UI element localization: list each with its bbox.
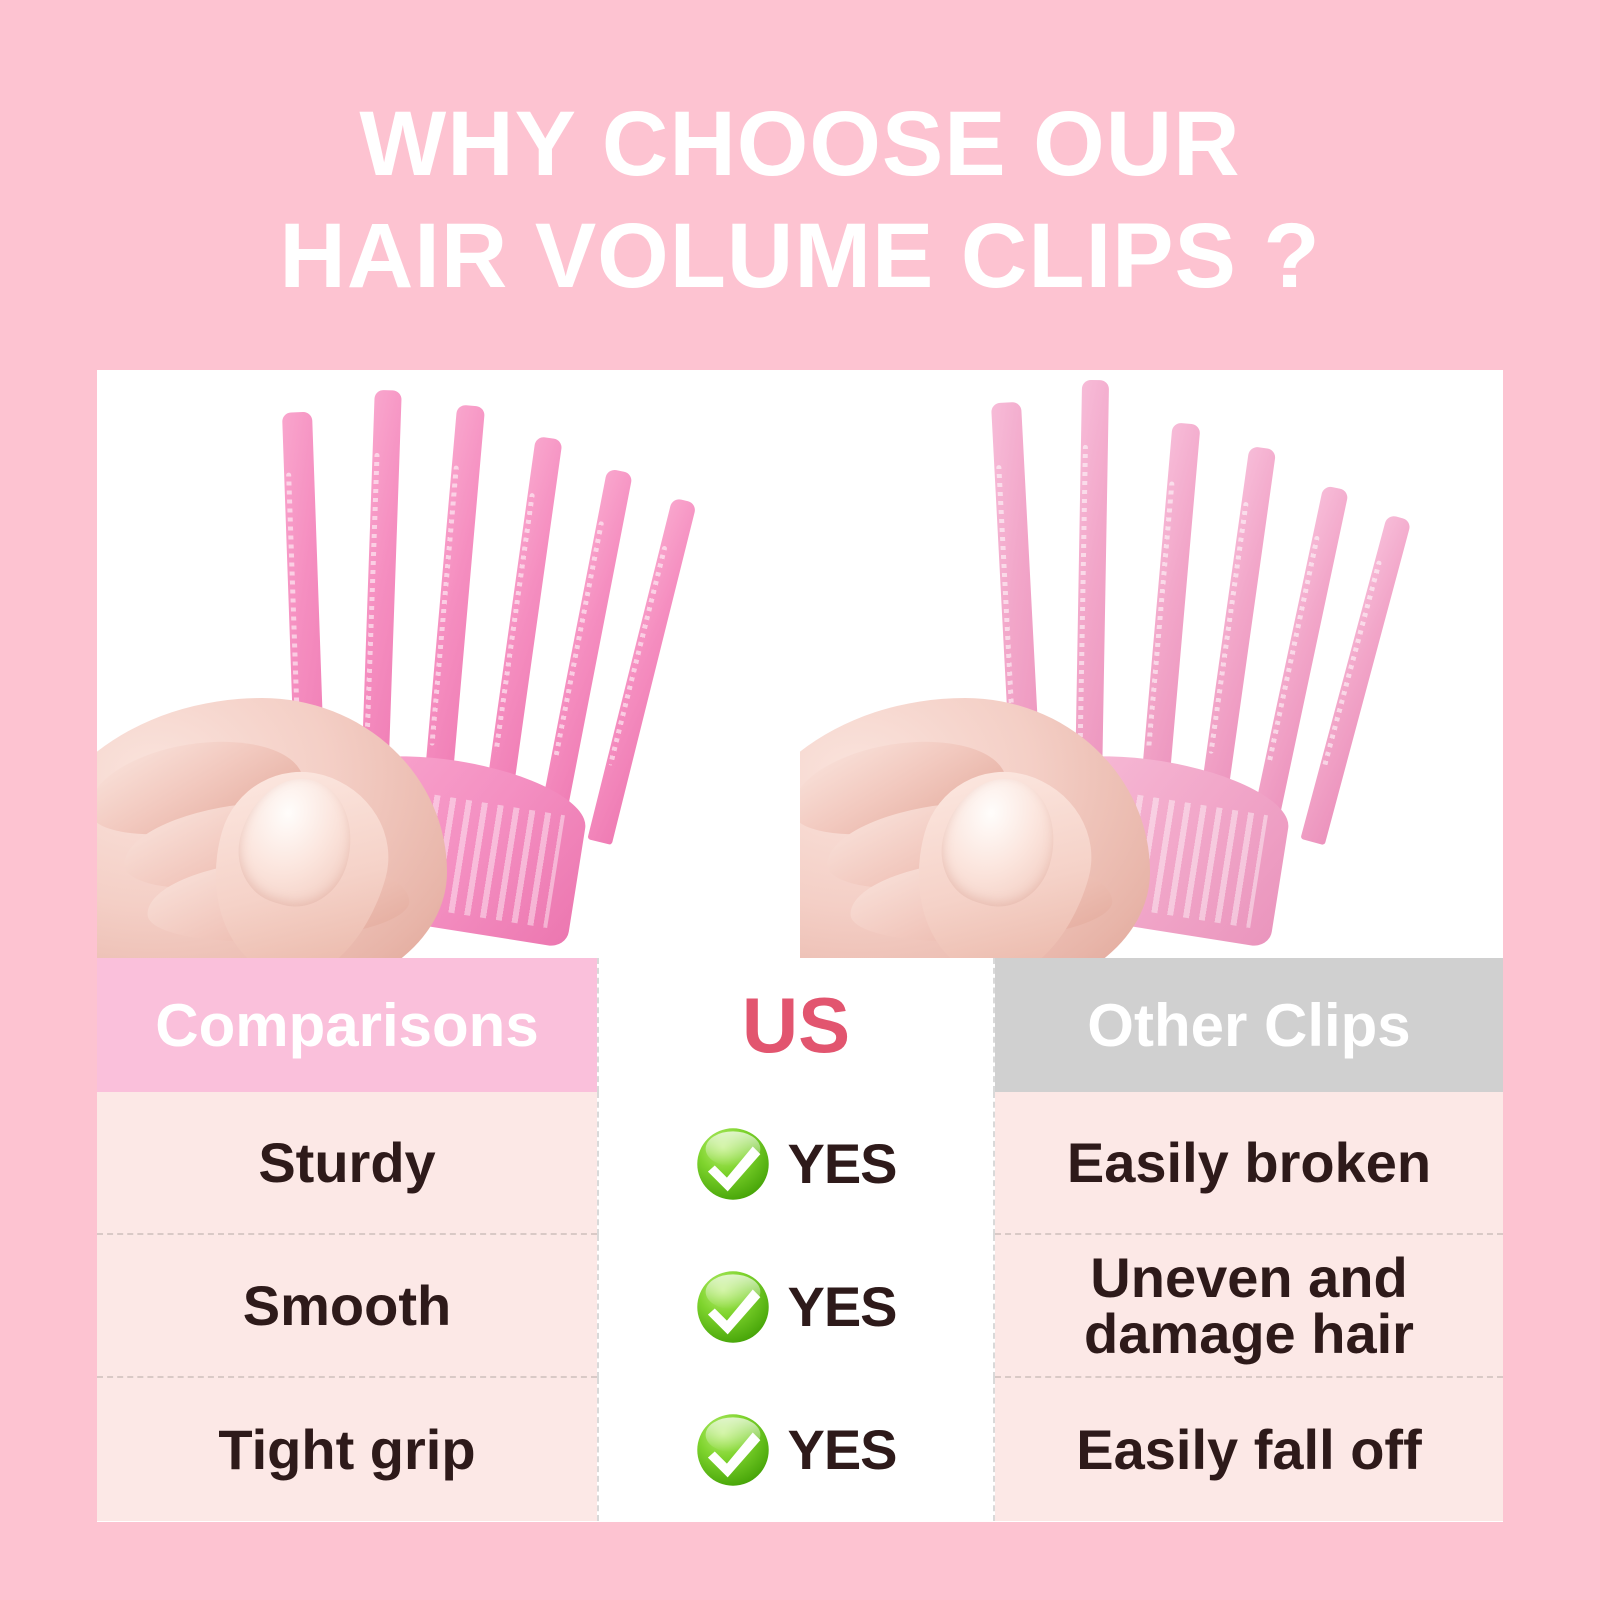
table-row: Tight grip YES Easily fall off: [97, 1378, 1503, 1521]
other-value-line-2: damage hair: [1084, 1306, 1414, 1362]
feature-label: Smooth: [97, 1235, 597, 1378]
hand-graphic: [97, 668, 497, 958]
feature-label: Tight grip: [97, 1378, 597, 1521]
other-value-line-1: Uneven and: [1084, 1250, 1414, 1306]
comparison-table: Comparisons US Other Clips Sturdy: [97, 958, 1503, 1522]
us-yes-label: YES: [787, 1417, 896, 1482]
hand-graphic: [800, 668, 1200, 958]
us-yes-label: YES: [787, 1274, 896, 1339]
content-panel: Comparisons US Other Clips Sturdy: [97, 370, 1503, 1522]
other-value-label: Easily broken: [995, 1092, 1503, 1235]
other-value-label: Easily fall off: [995, 1378, 1503, 1521]
us-yes-label: YES: [787, 1131, 896, 1196]
us-value-cell: YES: [597, 1235, 995, 1378]
infographic-page: WHY CHOOSE OUR HAIR VOLUME CLIPS ?: [0, 0, 1600, 1600]
product-photo-strip: [97, 370, 1503, 958]
feature-label: Sturdy: [97, 1092, 597, 1235]
table-row: Smooth YES Uneven and damage hair: [97, 1235, 1503, 1378]
us-value-cell: YES: [597, 1092, 995, 1235]
table-header-row: Comparisons US Other Clips: [97, 958, 1503, 1092]
green-check-icon: [695, 1269, 771, 1345]
other-value-label: Uneven and damage hair: [995, 1235, 1503, 1378]
green-check-icon: [695, 1126, 771, 1202]
page-title: WHY CHOOSE OUR HAIR VOLUME CLIPS ?: [0, 88, 1600, 312]
table-row: Sturdy: [97, 1092, 1503, 1235]
us-value-cell: YES: [597, 1378, 995, 1521]
header-other-clips: Other Clips: [995, 958, 1503, 1092]
title-line-1: WHY CHOOSE OUR: [0, 88, 1600, 200]
header-comparisons: Comparisons: [97, 958, 597, 1092]
green-check-icon: [695, 1412, 771, 1488]
product-photo-us: [97, 370, 800, 958]
title-line-2: HAIR VOLUME CLIPS ?: [0, 200, 1600, 312]
product-photo-other: [800, 370, 1503, 958]
header-us: US: [597, 958, 995, 1092]
